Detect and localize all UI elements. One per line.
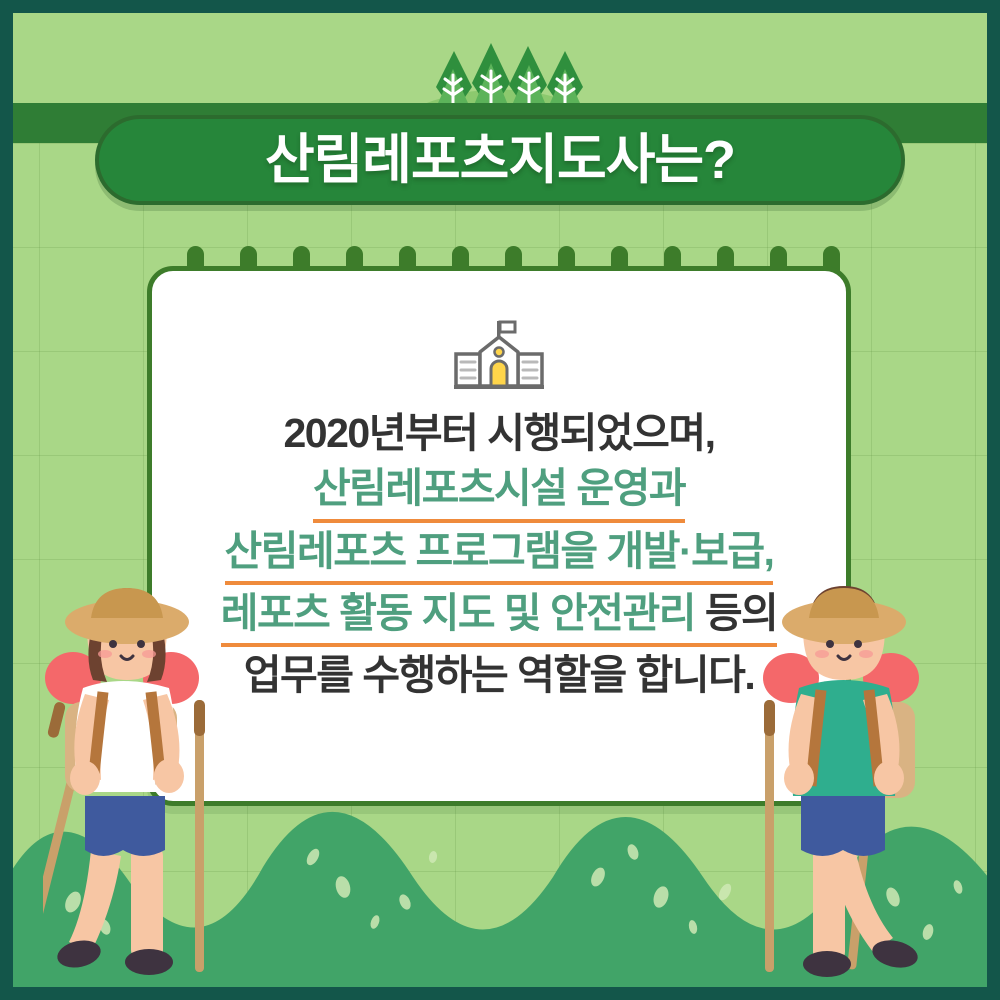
body-line-3: 산림레포츠 프로그램을 개발·보급, bbox=[152, 525, 846, 585]
body-line-4-underline-group: 레포츠 활동 지도 및 안전관리 등의 bbox=[221, 587, 778, 647]
male-hiker-with-trekking-poles bbox=[743, 582, 973, 987]
body-line-5-segment: 업무를 수행하는 역할을 합니다. bbox=[244, 652, 754, 698]
female-hiker-with-trekking-poles bbox=[43, 582, 273, 987]
school-building-icon bbox=[451, 319, 547, 391]
body-line-4-segment-green: 레포츠 활동 지도 및 안전관리 bbox=[221, 590, 695, 636]
poster-card: 산림레포츠지도사는? bbox=[0, 0, 1000, 1000]
page-title: 산림레포츠지도사는? bbox=[265, 133, 735, 187]
title-banner: 산림레포츠지도사는? bbox=[95, 115, 905, 205]
body-line-3-segment: 산림레포츠 프로그램을 개발·보급, bbox=[225, 525, 774, 585]
body-line-1: 2020년부터 시행되었으며, bbox=[152, 407, 846, 460]
body-line-2-segment: 산림레포츠시설 운영과 bbox=[313, 462, 685, 522]
body-line-2: 산림레포츠시설 운영과 bbox=[152, 462, 846, 522]
poster-inner-frame: 산림레포츠지도사는? bbox=[13, 13, 987, 987]
body-line-1-segment: 2020년부터 시행되었으며, bbox=[284, 410, 715, 456]
